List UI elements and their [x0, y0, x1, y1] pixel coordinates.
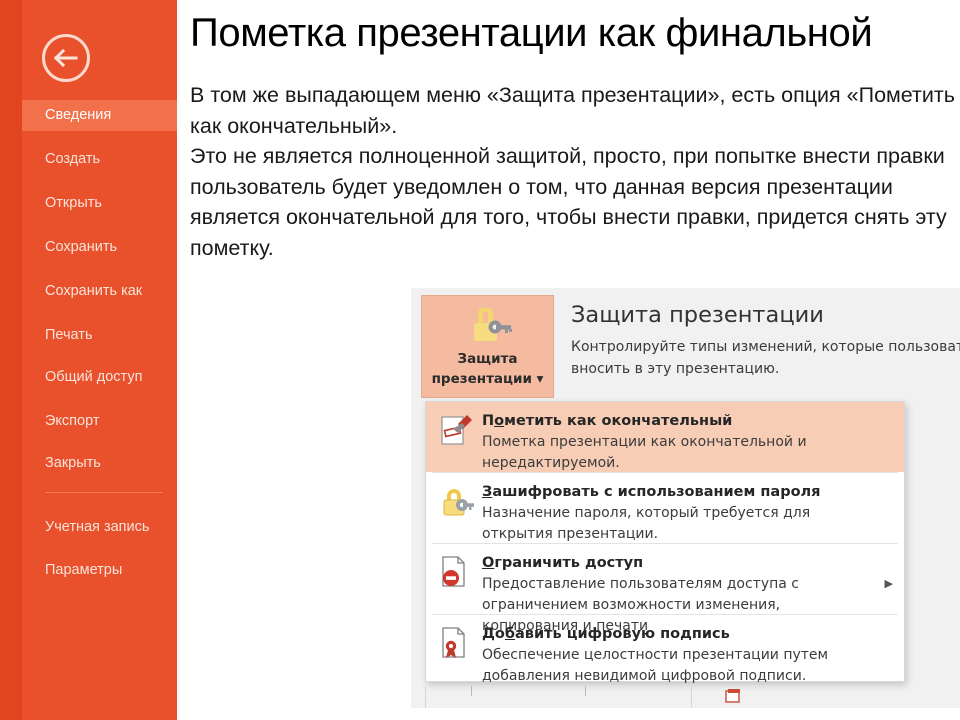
menu-item-4[interactable]: Добавить цифровую подписьОбеспечение цел… — [426, 615, 904, 685]
menu-item-title: Добавить цифровую подпись — [482, 624, 878, 644]
menu-item-3[interactable]: Ограничить доступПредоставление пользова… — [426, 544, 904, 614]
sidebar-item-10[interactable]: Учетная запись — [22, 512, 177, 543]
menu-item-title: Пометить как окончательный — [482, 411, 878, 431]
menu-item-description: Обеспечение целостности презентации путе… — [482, 645, 878, 687]
padlock-key-icon — [440, 483, 474, 519]
cut-off-row — [425, 686, 960, 708]
page-title: Пометка презентации как финальной — [190, 12, 872, 54]
slide-body-text: В том же выпадающем меню «Защита презент… — [190, 80, 956, 263]
menu-title-rest: граничить доступ — [494, 555, 643, 571]
restrict-access-icon — [440, 554, 474, 590]
menu-title-prefix: П — [482, 413, 494, 429]
protect-heading: Защита презентации — [571, 302, 824, 328]
menu-item-title: Зашифровать с использованием пароля — [482, 482, 878, 502]
sidebar-item-11[interactable]: Параметры — [22, 555, 177, 586]
sidebar-item-7[interactable]: Общий доступ — [22, 362, 177, 393]
sidebar-item-5[interactable]: Сохранить как — [22, 276, 177, 307]
slide-paragraph-1: В том же выпадающем меню «Защита презент… — [190, 80, 956, 141]
menu-item-2[interactable]: Зашифровать с использованием пароляНазна… — [426, 473, 904, 543]
submenu-arrow-icon[interactable]: ▶ — [885, 578, 893, 589]
menu-item-description: Назначение пароля, который требуется для… — [482, 503, 878, 545]
slide-paragraph-2: Это не является полноценной защитой, про… — [190, 141, 956, 263]
back-button[interactable] — [42, 34, 90, 82]
digital-signature-icon — [440, 625, 474, 661]
mark-as-final-icon — [440, 412, 474, 448]
menu-title-rest: ашифровать с использованием пароля — [492, 484, 820, 500]
backstage-sidebar: СведенияСоздатьОткрытьСохранитьСохранить… — [0, 0, 177, 720]
protect-description: Контролируйте типы изменений, которые по… — [571, 336, 960, 380]
protect-presentation-button[interactable]: Защита презентации ▾ — [421, 295, 554, 398]
menu-item-title: Ограничить доступ — [482, 553, 878, 573]
key-lock-icon — [422, 308, 553, 348]
document-icon — [725, 688, 745, 704]
menu-title-accelerator: б — [505, 626, 515, 642]
menu-title-accelerator: З — [482, 484, 492, 500]
menu-item-1[interactable]: Пометить как окончательныйПометка презен… — [426, 402, 904, 472]
menu-title-rest: метить как окончательный — [504, 413, 732, 429]
menu-title-accelerator: О — [482, 555, 494, 571]
protect-presentation-dropdown[interactable]: Пометить как окончательныйПометка презен… — [425, 401, 905, 682]
slide-content: Пометка презентации как финальной В том … — [186, 0, 960, 720]
sidebar-item-6[interactable]: Печать — [22, 320, 177, 351]
sidebar-item-3[interactable]: Открыть — [22, 188, 177, 219]
sidebar-item-9[interactable]: Закрыть — [22, 448, 177, 479]
menu-title-rest: авить цифровую подпись — [515, 626, 730, 642]
menu-item-description: Пометка презентации как окончательной и … — [482, 432, 878, 474]
menu-title-accelerator: о — [494, 413, 504, 429]
back-arrow-icon — [45, 37, 87, 79]
protect-button-label-line1: Защита — [422, 350, 553, 368]
protect-button-label-line2: презентации ▾ — [422, 370, 553, 388]
sidebar-item-2[interactable]: Создать — [22, 144, 177, 175]
sidebar-item-4[interactable]: Сохранить — [22, 232, 177, 263]
sidebar-item-8[interactable]: Экспорт — [22, 406, 177, 437]
sidebar-item-1[interactable]: Сведения — [22, 100, 177, 131]
backstage-left-rail — [0, 0, 22, 720]
menu-title-prefix: До — [482, 626, 505, 642]
nav-separator — [45, 492, 163, 493]
embedded-powerpoint-screenshot: Защита презентации ▾ Защита презентации … — [411, 288, 960, 708]
